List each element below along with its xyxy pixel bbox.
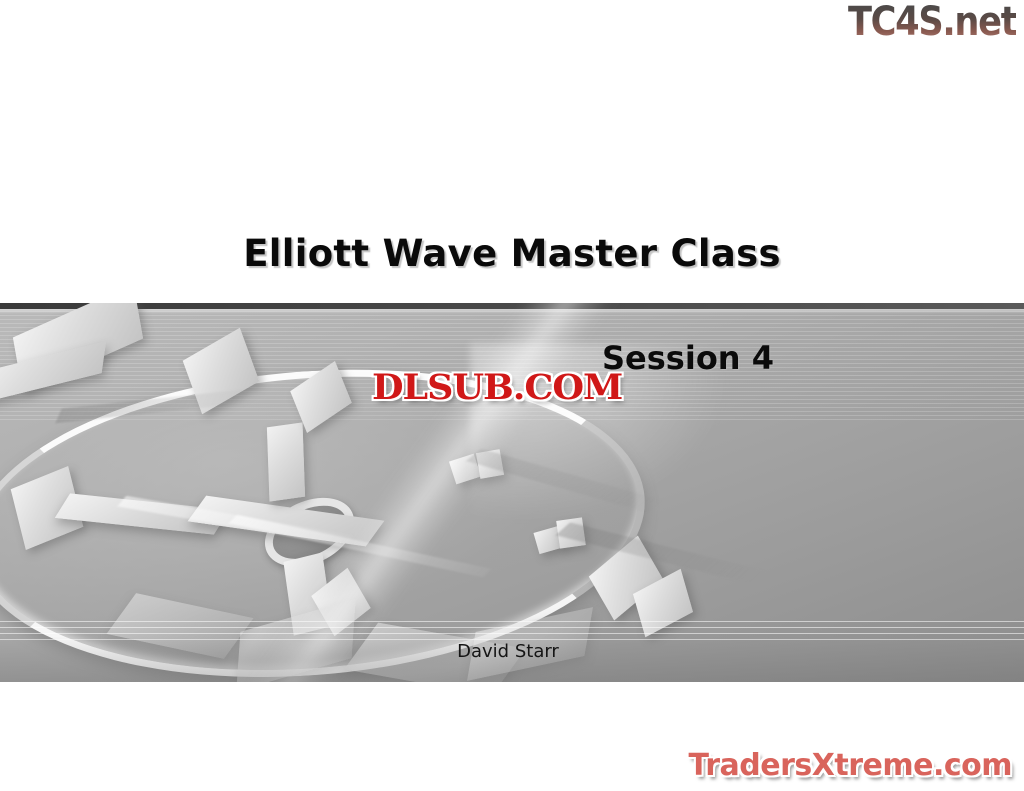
- slide-canvas: TC4S.net Elliott Wave Master Class: [0, 0, 1024, 791]
- dlsub-watermark: DLSUB.COM: [372, 370, 622, 405]
- presenter-name: David Starr: [0, 641, 1020, 662]
- shard-block: [267, 422, 305, 501]
- tradersxtreme-logo: TradersXtreme.com: [689, 751, 1012, 781]
- page-title: Elliott Wave Master Class: [0, 232, 1024, 275]
- tc4s-logo: TC4S.net: [848, 2, 1016, 42]
